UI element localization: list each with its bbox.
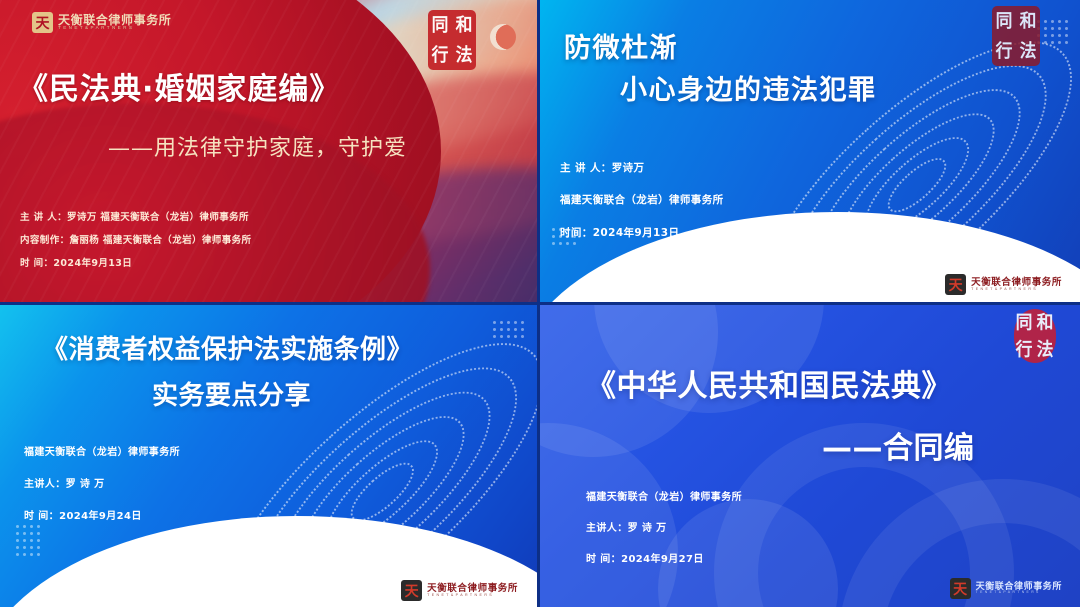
seal-char-1: 同 <box>432 16 449 34</box>
firm-name-en: TENET&PARTNERS <box>427 594 518 598</box>
dot-grid-top-right <box>1037 20 1068 44</box>
slide-title-line2-consumer: 实务要点分享 <box>152 375 311 412</box>
seal-char-1: 同 <box>1016 313 1033 331</box>
meta-date-line: 时 间：2024年9月24日 <box>24 507 142 522</box>
seal-char-1: 同 <box>996 12 1013 30</box>
seal-char-2: 和 <box>1020 12 1037 30</box>
tenet-logo-mark-icon <box>401 580 422 601</box>
meta-firm-line: 福建天衡联合（龙岩）律师事务所 <box>560 192 724 207</box>
firm-logo-top-left: 天衡联合律师事务所 TENET&PARTNERS <box>32 12 171 33</box>
meta-firm-line: 福建天衡联合（龙岩）律师事务所 <box>586 488 742 503</box>
slide-title-line2-civilcode: ——合同编 <box>822 423 975 467</box>
circle-decoration-3 <box>538 423 678 607</box>
seal-stamp-he-fa-tong-xing: 同 和 行 法 <box>992 6 1040 66</box>
dot-grid-top-right <box>493 321 524 338</box>
slide-subtitle-marriage: ——用法律守护家庭，守护爱 <box>108 130 407 162</box>
meta-date-line: 时 间：2024年9月13日 <box>20 255 132 269</box>
meta-date-line: 时间：2024年9月13日 <box>560 225 679 240</box>
seal-stamp-he-fa-tong-xing: 同 和 行 法 <box>428 10 476 70</box>
panel-divider-horizontal <box>0 302 1080 305</box>
firm-logo-bottom-right: 天衡联合律师事务所 TENET&PARTNERS <box>945 274 1062 295</box>
seal-char-3: 行 <box>432 46 449 64</box>
meta-date-line: 时 间：2024年9月27日 <box>586 550 704 565</box>
meta-speaker-line: 主讲人：罗 诗 万 <box>586 519 667 534</box>
slide-panel-crime-prevention[interactable]: 同 和 行 法 防微杜渐 小心身边的违法犯罪 主 讲 人：罗诗万 福建天衡联合（… <box>538 0 1080 303</box>
firm-name-en: TENET&PARTNERS <box>971 288 1062 292</box>
seal-char-3: 行 <box>1016 340 1033 358</box>
meta-firm-line: 福建天衡联合（龙岩）律师事务所 <box>24 443 180 458</box>
firm-logo-bottom-right: 天衡联合律师事务所 TENET&PARTNERS <box>950 578 1062 599</box>
meta-speaker-line: 主讲人：罗 诗 万 <box>24 475 105 490</box>
seal-stamp-he-fa-tong-xing: 同 和 行 法 <box>1014 309 1056 363</box>
seal-char-3: 行 <box>996 42 1013 60</box>
slide-panel-marriage-family[interactable]: 天衡联合律师事务所 TENET&PARTNERS 同 和 行 法 《民法典·婚姻… <box>0 0 538 303</box>
meta-speaker-line: 主 讲 人：罗诗万 <box>560 160 644 175</box>
firm-logo-bottom-right: 天衡联合律师事务所 TENET&PARTNERS <box>401 580 518 601</box>
tenet-logo-mark-icon <box>32 12 53 33</box>
seal-char-2: 和 <box>1037 313 1054 331</box>
slide-title-line1-consumer: 《消费者权益保护法实施条例》 <box>42 329 413 366</box>
slide-collage: 天衡联合律师事务所 TENET&PARTNERS 同 和 行 法 《民法典·婚姻… <box>0 0 1080 607</box>
seal-char-4: 法 <box>1020 42 1037 60</box>
seal-char-2: 和 <box>456 16 473 34</box>
meta-producer-line: 内容制作：詹丽杨 福建天衡联合（龙岩）律师事务所 <box>20 232 251 246</box>
panel-divider-vertical <box>537 0 540 607</box>
slide-panel-civil-code-contract[interactable]: 同 和 行 法 《中华人民共和国民法典》 ——合同编 福建天衡联合（龙岩）律师事… <box>538 303 1080 607</box>
slide-title-marriage: 《民法典·婚姻家庭编》 <box>18 64 340 108</box>
firm-name-en: TENET&PARTNERS <box>58 26 171 31</box>
tenet-logo-mark-icon <box>950 578 971 599</box>
slide-title-line1-civilcode: 《中华人民共和国民法典》 <box>586 361 952 405</box>
tenet-logo-mark-icon <box>945 274 966 295</box>
meta-speaker-line: 主 讲 人：罗诗万 福建天衡联合（龙岩）律师事务所 <box>20 209 249 223</box>
seal-char-4: 法 <box>456 46 473 64</box>
firm-name-en: TENET&PARTNERS <box>976 591 1062 595</box>
slide-panel-consumer-protection[interactable]: 《消费者权益保护法实施条例》 实务要点分享 福建天衡联合（龙岩）律师事务所 主讲… <box>0 303 538 607</box>
slide-title-line2-crime: 小心身边的违法犯罪 <box>620 68 877 107</box>
dot-grid-bottom-left <box>16 525 40 556</box>
seal-char-4: 法 <box>1037 340 1054 358</box>
moon-dot-decoration <box>490 24 516 50</box>
slide-title-line1-crime: 防微杜渐 <box>564 26 678 65</box>
